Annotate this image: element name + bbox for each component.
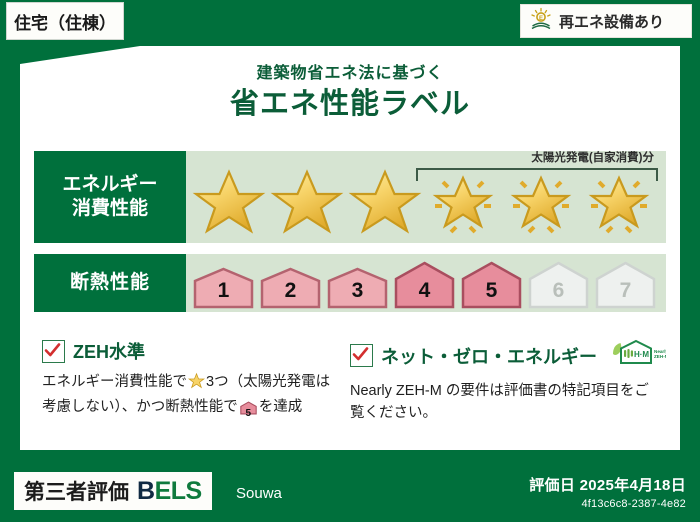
energy-performance-label: 住宅（住棟） E 再エネ設備あり 建築物省エネ法に基づく — [0, 0, 700, 522]
label-subtitle: 建築物省エネ法に基づく — [20, 64, 680, 83]
note-title: ZEH水準 — [73, 338, 145, 364]
insulation-performance-row: 断熱性能 1 2 — [34, 254, 666, 312]
insulation-grade-number: 2 — [259, 279, 322, 303]
svg-text:E: E — [539, 16, 543, 22]
bels-logo-b: B — [137, 477, 155, 505]
insulation-grade-inline-number: 5 — [240, 406, 257, 422]
insulation-grade-badge: 7 — [594, 261, 657, 309]
note-header: ZEH水準 — [42, 338, 342, 364]
evaluation-id: 4f13c6c8-2387-4e82 — [529, 498, 686, 510]
energy-performance-stars-panel: 太陽光発電(自家消費)分 — [186, 151, 666, 243]
house-type-chip: 住宅（住棟） — [6, 2, 124, 40]
insulation-grade-badge: 4 — [393, 261, 456, 309]
insulation-grade-number: 6 — [527, 279, 590, 303]
note-text-part3: を達成 — [259, 399, 303, 415]
renewable-energy-badge: E 再エネ設備あり — [520, 4, 692, 38]
insulation-grade-badge: 1 — [192, 267, 255, 309]
star-rating-group — [186, 151, 666, 243]
star-icon — [188, 377, 205, 393]
insulation-grade-number: 7 — [594, 279, 657, 303]
svg-text:H·M: H·M — [634, 350, 649, 359]
insulation-grade-number: 4 — [393, 279, 456, 303]
insulation-performance-label: 断熱性能 — [34, 254, 186, 312]
zeh-m-house-icon: H·M Nearly ZEH-M — [610, 338, 666, 373]
evaluation-date: 評価日 2025年4月18日 — [529, 474, 686, 495]
insulation-grade-number: 1 — [192, 279, 255, 303]
note-net-zero-energy: ネット・ゼロ・エネルギー H·M Nearly ZEH-M — [350, 338, 650, 425]
label-card: 建築物省エネ法に基づく 省エネ性能ラベル エネルギー 消費性能 太陽光発電(自家… — [20, 46, 680, 450]
insulation-grade-badge: 5 — [460, 261, 523, 309]
star-solar-icon — [424, 162, 502, 240]
bels-third-party-evaluation-box: 第三者評価 BELS — [14, 472, 212, 510]
note-body: エネルギー消費性能で3つ（太陽光発電は考慮しない）、かつ断熱性能で5を達成 — [42, 371, 342, 423]
star-solar-icon — [580, 162, 658, 240]
note-zeh-standard: ZEH水準 エネルギー消費性能で3つ（太陽光発電は考慮しない）、かつ断熱性能で5… — [42, 338, 342, 423]
insulation-grade-panel: 1 2 3 — [186, 254, 666, 312]
checkbox-checked-icon — [42, 340, 65, 363]
note-text-part1: エネルギー消費性能で — [42, 374, 187, 390]
renewable-energy-label: 再エネ設備あり — [559, 11, 664, 32]
star-solar-icon — [502, 162, 580, 240]
title-block: 建築物省エネ法に基づく 省エネ性能ラベル — [20, 64, 680, 122]
label-title: 省エネ性能ラベル — [20, 88, 680, 121]
insulation-grade-number: 3 — [326, 279, 389, 303]
insulation-grade-badge: 6 — [527, 261, 590, 309]
bels-logo-els: ELS — [155, 477, 202, 505]
star-icon — [346, 162, 424, 240]
house-type-label: 住宅（住棟） — [14, 9, 116, 34]
insulation-grade-badge: 3 — [326, 267, 389, 309]
checkbox-checked-icon — [350, 344, 373, 367]
zeh-m-caption-line2: ZEH-M — [654, 354, 666, 359]
energy-performance-label: エネルギー 消費性能 — [34, 151, 186, 243]
insulation-grade-badge: 2 — [259, 267, 322, 309]
energy-performance-row: エネルギー 消費性能 太陽光発電(自家消費)分 — [34, 151, 666, 243]
star-icon — [190, 162, 268, 240]
note-body: Nearly ZEH-M の要件は評価書の特記項目をご覧ください。 — [350, 380, 650, 425]
note-header: ネット・ゼロ・エネルギー H·M Nearly ZEH-M — [350, 338, 650, 373]
note-title: ネット・ゼロ・エネルギー — [381, 343, 597, 369]
footer-meta: 評価日 2025年4月18日 4f13c6c8-2387-4e82 — [529, 474, 686, 510]
star-icon — [268, 162, 346, 240]
insulation-grade-group: 1 2 3 — [192, 254, 666, 312]
bels-japanese-label: 第三者評価 — [24, 476, 129, 506]
operator-name: Souwa — [236, 485, 282, 502]
insulation-grade-inline-badge: 5 — [240, 400, 257, 422]
insulation-grade-number: 5 — [460, 279, 523, 303]
sun-icon: E — [529, 7, 553, 36]
bels-logo: BELS — [137, 477, 202, 506]
